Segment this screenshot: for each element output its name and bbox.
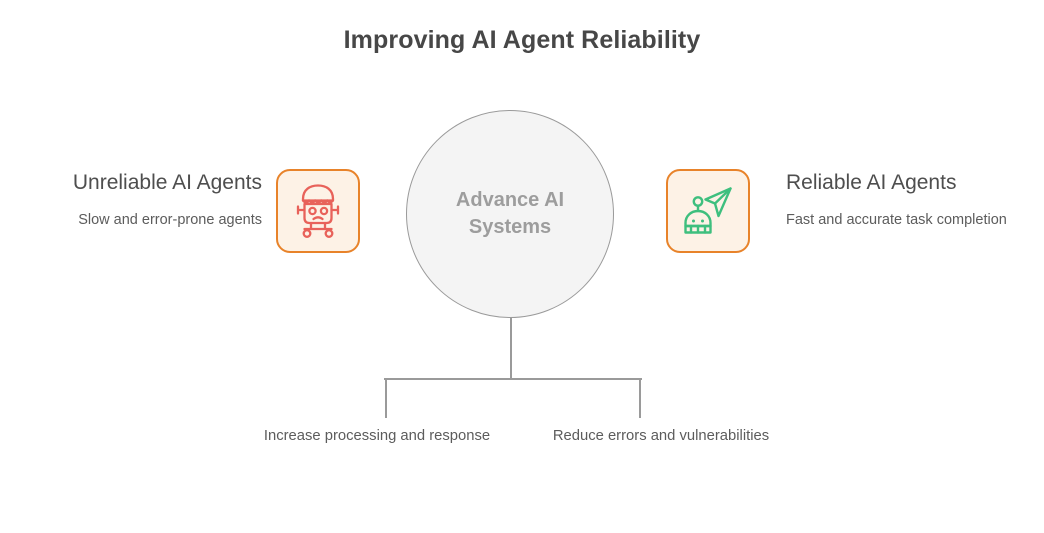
reliable-agent-icon-tile	[666, 169, 750, 253]
outcome-label-increase-processing: Increase processing and response	[252, 425, 502, 447]
unreliable-agent-subtitle: Slow and error-prone agents	[32, 210, 262, 230]
unreliable-agent-block: Unreliable AI Agents Slow and error-pron…	[32, 170, 262, 230]
reliable-agent-block: Reliable AI Agents Fast and accurate tas…	[786, 170, 1016, 230]
page-title: Improving AI Agent Reliability	[0, 26, 1044, 55]
outcome-label-reduce-errors: Reduce errors and vulnerabilities	[536, 425, 786, 447]
center-node-label: Advance AI Systems	[435, 187, 585, 241]
unreliable-agent-heading: Unreliable AI Agents	[32, 170, 262, 197]
center-node: Advance AI Systems	[406, 110, 614, 318]
reliable-agent-subtitle: Fast and accurate task completion	[786, 210, 1016, 230]
frankenstein-robot-icon	[291, 183, 345, 239]
unreliable-agent-icon-tile	[276, 169, 360, 253]
robot-cursor-icon	[680, 183, 736, 239]
reliable-agent-heading: Reliable AI Agents	[786, 170, 1016, 197]
